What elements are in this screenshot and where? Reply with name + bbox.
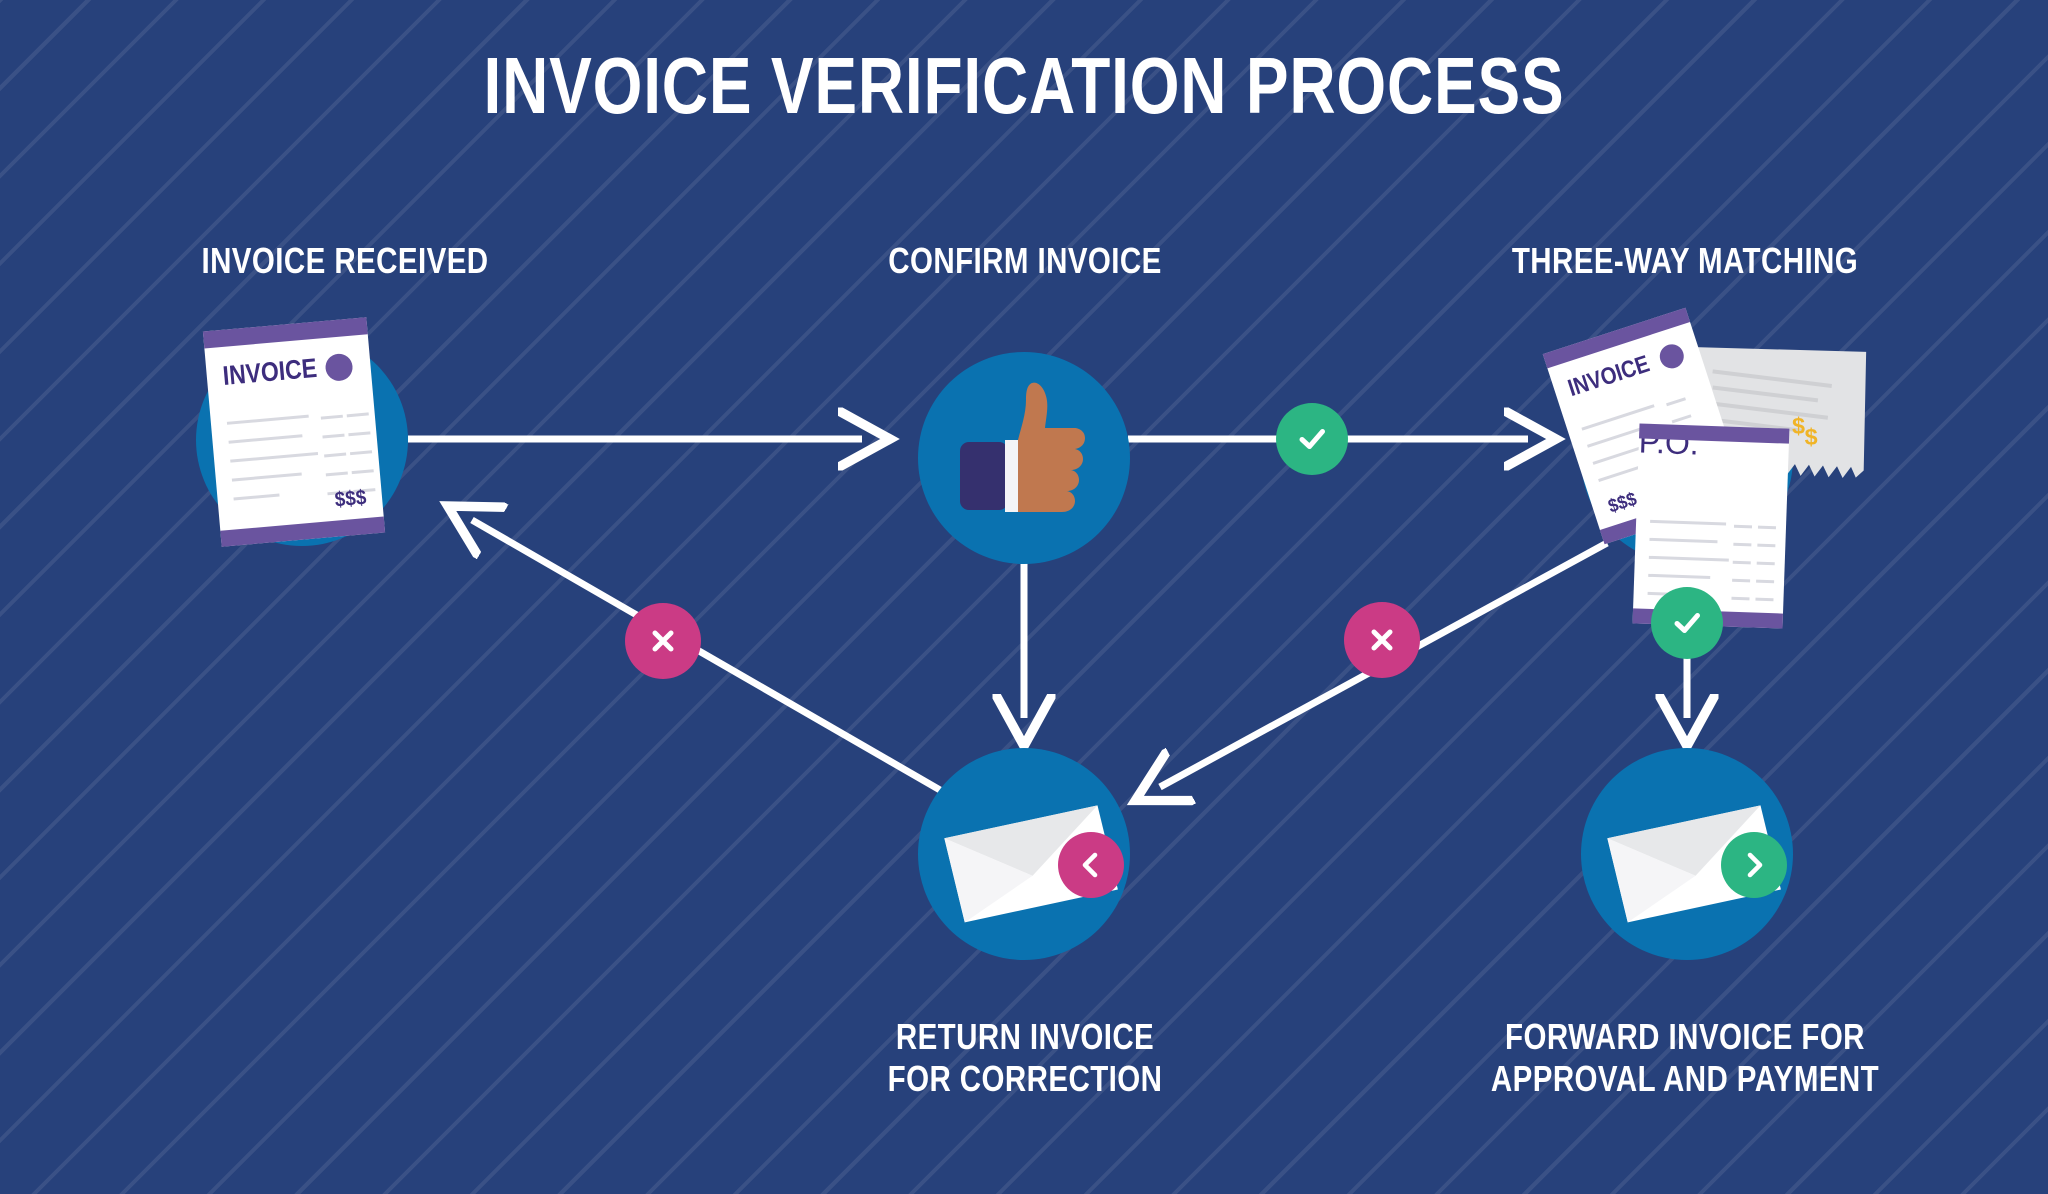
po-doc-rule <box>1756 580 1774 584</box>
invoice-doc-rule <box>227 415 309 425</box>
node-label-return-invoice: RETURN INVOICEFOR CORRECTION <box>791 1016 1258 1100</box>
po-doc-rule <box>1757 562 1775 566</box>
matching-invoice-rule <box>1672 414 1692 423</box>
invoice-doc-rule <box>324 453 346 458</box>
thumbs-up-icon <box>950 370 1102 530</box>
matching-invoice-amount: $$$ <box>1606 489 1640 519</box>
diagram-canvas: INVOICE VERIFICATION PROCESS INVOICE REC… <box>0 0 2048 1194</box>
connector-badge-check-matching-to-forward <box>1651 587 1723 659</box>
po-doc-rule <box>1649 538 1717 543</box>
node-label-forward-invoice: FORWARD INVOICE FORAPPROVAL AND PAYMENT <box>1451 1016 1918 1100</box>
forward-label-line1: FORWARD INVOICE FOR <box>1505 1016 1865 1057</box>
check-icon <box>1292 419 1332 459</box>
po-doc-rule <box>1731 597 1749 601</box>
chevron-right-icon <box>1739 850 1769 880</box>
invoice-doc-rule <box>352 469 374 474</box>
invoice-doc-rule <box>322 434 344 439</box>
matching-invoice-dot <box>1657 341 1687 371</box>
invoice-doc-rule <box>348 431 370 436</box>
invoice-doc-title: INVOICE <box>222 353 319 392</box>
invoice-doc-rule <box>350 450 372 455</box>
svg-text:$: $ <box>1792 413 1805 439</box>
invoice-doc-rule <box>232 472 302 481</box>
invoice-doc-rule <box>321 415 343 420</box>
po-doc-rule <box>1648 574 1710 579</box>
return-badge-chevron-left[interactable] <box>1058 832 1124 898</box>
invoice-doc-rule <box>326 471 348 476</box>
invoice-doc-rule <box>233 494 279 501</box>
forward-label-line2: APPROVAL AND PAYMENT <box>1491 1058 1879 1099</box>
po-doc-rule <box>1649 556 1729 562</box>
invoice-doc-rule <box>229 434 303 443</box>
node-label-three-way-matching: THREE-WAY MATCHING <box>1451 240 1918 282</box>
connector-badge-x-return-to-invoice <box>625 603 701 679</box>
invoice-doc-rule <box>347 412 369 417</box>
chevron-left-icon <box>1076 850 1106 880</box>
po-doc-rule <box>1758 526 1776 530</box>
po-doc-rule <box>1733 561 1751 565</box>
po-doc-rule <box>1734 525 1752 529</box>
matching-invoice-rule <box>1666 397 1686 406</box>
invoice-document-icon: INVOICE $$$ <box>203 317 385 546</box>
check-icon <box>1667 603 1707 643</box>
x-icon <box>644 622 682 660</box>
connector-badge-check-confirm-to-matching <box>1276 403 1348 475</box>
return-label-line1: RETURN INVOICE <box>896 1016 1154 1057</box>
connector-badge-x-matching-to-return <box>1344 602 1420 678</box>
po-doc-rule <box>1650 520 1726 526</box>
svg-text:$: $ <box>1805 424 1818 450</box>
po-doc-rule <box>1755 598 1773 602</box>
invoice-doc-rule <box>230 452 318 463</box>
invoice-doc-dot <box>324 353 353 382</box>
node-label-invoice-received: INVOICE RECEIVED <box>111 240 578 282</box>
connector-return-to-invoice <box>472 520 940 790</box>
node-label-confirm-invoice: CONFIRM INVOICE <box>791 240 1258 282</box>
forward-badge-chevron-right[interactable] <box>1721 832 1787 898</box>
invoice-doc-amount: $$$ <box>334 486 368 513</box>
po-doc-rule <box>1757 544 1775 548</box>
x-icon <box>1363 621 1401 659</box>
po-doc-rule <box>1732 579 1750 583</box>
page-title: INVOICE VERIFICATION PROCESS <box>205 40 1843 132</box>
return-label-line2: FOR CORRECTION <box>888 1058 1163 1099</box>
po-doc-rule <box>1733 543 1751 547</box>
